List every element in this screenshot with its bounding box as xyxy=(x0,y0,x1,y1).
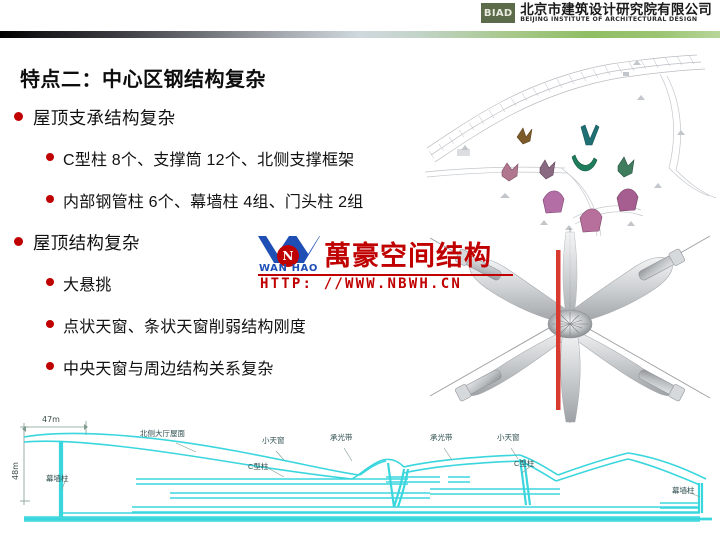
bullet-text: 内部钢管柱 6个、幕墙柱 4组、门头柱 2组 xyxy=(63,188,363,212)
biad-logo-text: 北京市建筑设计研究院有限公司 BEIJING INSTITUTE OF ARCH… xyxy=(520,3,712,24)
bullet-dot-icon xyxy=(46,362,54,370)
hub-section-marker xyxy=(556,250,561,410)
label-curtain-column-2: 幕墙柱 xyxy=(672,485,695,495)
bullet-dot-icon xyxy=(46,320,54,328)
wanhao-url: HTTP: //WWW.NBWH.CN xyxy=(260,276,462,292)
bullet-dot-icon xyxy=(46,278,54,286)
company-name-en: BEIJING INSTITUTE OF ARCHITECTURAL DESIG… xyxy=(520,17,712,24)
label-small-skylight-2: 小天窗 xyxy=(497,432,520,442)
label-north-hall-roof: 北侧大厅屋面 xyxy=(140,428,185,438)
bullet-dot-icon xyxy=(46,153,54,161)
plan-grid-lines xyxy=(427,55,705,162)
wanhao-badge-letter: N xyxy=(283,250,294,262)
label-c-column-2: C型柱 xyxy=(514,458,535,468)
building-section-diagram: 47m 48m xyxy=(0,405,720,540)
wanhao-logo-mark: N WAN HAO xyxy=(258,236,320,274)
bullet-dot-icon xyxy=(14,237,23,246)
bullet-item-6: 点状天窗、条状天窗削弱结构刚度 xyxy=(46,313,470,337)
bullet-text: 中央天窗与周边结构关系复杂 xyxy=(63,355,274,379)
wanhao-pinyin: WAN HAO xyxy=(259,263,318,274)
slide-title: 特点二：中心区钢结构复杂 xyxy=(20,63,266,92)
floor-slabs xyxy=(24,477,700,521)
slide-header: BIAD 北京市建筑设计研究院有限公司 BEIJING INSTITUTE OF… xyxy=(0,0,720,32)
label-curtain-column-1: 幕墙柱 xyxy=(46,473,69,483)
header-gradient-band xyxy=(0,31,720,38)
roof-outline xyxy=(24,433,706,485)
bullet-text: 屋顶支承结构复杂 xyxy=(33,105,175,130)
label-light-band-1: 承光带 xyxy=(330,432,353,442)
wanhao-name-cn: 萬豪空间结构 xyxy=(324,234,492,273)
bullet-text: 点状天窗、条状天窗削弱结构刚度 xyxy=(63,313,306,337)
biad-logo-abbr: BIAD xyxy=(484,8,513,19)
label-light-band-2: 承光带 xyxy=(430,432,453,442)
slide-root: BIAD 北京市建筑设计研究院有限公司 BEIJING INSTITUTE OF… xyxy=(0,0,720,540)
label-c-column-1: C型柱 xyxy=(248,461,269,471)
plan-misc-marks xyxy=(457,60,685,230)
biad-logo-mark: BIAD xyxy=(481,3,515,23)
bullet-text: 屋顶结构复杂 xyxy=(33,230,140,255)
dim-label-width: 47m xyxy=(42,415,60,424)
bullet-dot-icon xyxy=(14,112,23,121)
plan-column-symbols xyxy=(502,125,638,232)
biad-logo: BIAD 北京市建筑设计研究院有限公司 BEIJING INSTITUTE OF… xyxy=(481,3,712,24)
label-small-skylight-1: 小天窗 xyxy=(262,435,285,445)
roof-plan-graphic xyxy=(405,40,720,240)
bullet-item-7: 中央天窗与周边结构关系复杂 xyxy=(46,355,470,379)
bullet-item-1: 屋顶支承结构复杂 xyxy=(14,105,470,130)
wanhao-watermark: N WAN HAO 萬豪空间结构 HTTP: //WWW.NBWH.CN xyxy=(258,234,526,296)
bullet-text: C型柱 8个、支撑筒 12个、北侧支撑框架 xyxy=(63,146,354,170)
bullet-text: 大悬挑 xyxy=(63,271,112,295)
bullet-dot-icon xyxy=(46,195,54,203)
company-name-cn: 北京市建筑设计研究院有限公司 xyxy=(520,3,712,17)
dim-label-height: 48m xyxy=(11,462,20,480)
